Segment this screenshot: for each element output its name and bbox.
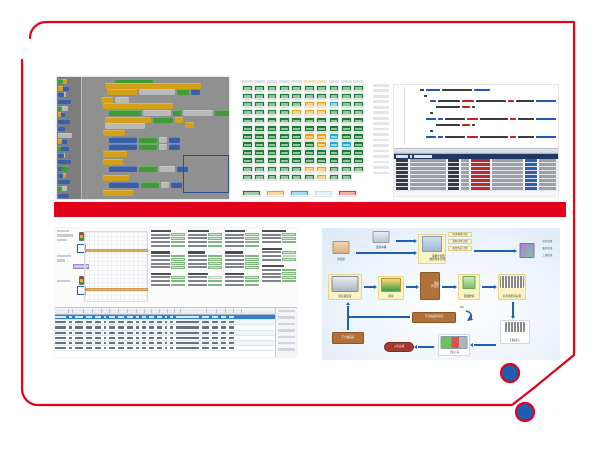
table-column-header[interactable] bbox=[207, 309, 217, 313]
schedule-data-table[interactable] bbox=[55, 307, 297, 357]
table-cell bbox=[127, 316, 133, 318]
status-cell[interactable] bbox=[353, 93, 364, 100]
status-cell[interactable] bbox=[316, 125, 327, 132]
status-cell[interactable] bbox=[267, 117, 278, 124]
status-cell[interactable] bbox=[279, 85, 290, 92]
status-cell[interactable] bbox=[341, 166, 352, 173]
status-cell[interactable] bbox=[279, 109, 290, 116]
table-cell bbox=[221, 342, 226, 344]
status-cell[interactable] bbox=[341, 125, 352, 132]
table-cell bbox=[104, 342, 107, 344]
status-cell[interactable] bbox=[279, 93, 290, 100]
status-cell[interactable] bbox=[254, 174, 265, 181]
flow-node-erp-system bbox=[518, 242, 536, 260]
flow-tag-out-2: 账务信息 bbox=[538, 247, 557, 252]
status-cell[interactable] bbox=[304, 149, 315, 156]
status-cell[interactable] bbox=[279, 133, 290, 140]
table-cell bbox=[149, 347, 154, 349]
table-cell bbox=[55, 316, 66, 318]
accent-dot-lower bbox=[516, 403, 534, 421]
flow-arrow bbox=[356, 252, 414, 254]
flow-arrow-head bbox=[470, 343, 473, 347]
table-cell bbox=[149, 321, 154, 323]
status-cell[interactable] bbox=[341, 117, 352, 124]
detail-column bbox=[188, 230, 222, 303]
table-cell bbox=[109, 316, 115, 318]
panel-status-grid[interactable] bbox=[240, 78, 392, 199]
status-cell[interactable] bbox=[291, 93, 302, 100]
status-cell[interactable] bbox=[316, 85, 327, 92]
table-cell bbox=[86, 332, 92, 334]
gantt-bar[interactable] bbox=[86, 288, 148, 291]
status-cell[interactable] bbox=[267, 109, 278, 116]
status-cell[interactable] bbox=[304, 85, 315, 92]
table-column-header[interactable] bbox=[168, 309, 175, 313]
flow-arrow-head bbox=[416, 285, 419, 289]
table-cell bbox=[212, 326, 218, 328]
status-cell[interactable] bbox=[353, 125, 364, 132]
panel-schedule-board[interactable] bbox=[55, 228, 297, 357]
legend-swatch-idle bbox=[314, 190, 333, 196]
legend-swatch-running bbox=[290, 190, 309, 196]
table-cell bbox=[170, 326, 173, 328]
status-cell[interactable] bbox=[291, 125, 302, 132]
status-cell[interactable] bbox=[267, 133, 278, 140]
status-cell[interactable] bbox=[254, 133, 265, 140]
panel-logistics-flowchart[interactable]: 供应商 送货车辆 需求计划及 收货作业计划 需求预测计划 采购订单计划 收货作业… bbox=[322, 228, 560, 360]
flow-arrow bbox=[348, 316, 410, 318]
status-cell[interactable] bbox=[254, 166, 265, 173]
status-cell[interactable] bbox=[242, 101, 253, 108]
detail-column bbox=[262, 230, 296, 303]
table-column-header[interactable] bbox=[128, 309, 137, 313]
status-cell[interactable] bbox=[267, 125, 278, 132]
table-column-header[interactable] bbox=[73, 309, 84, 313]
flow-label: 不合格品库 bbox=[342, 337, 355, 340]
status-cell[interactable] bbox=[242, 133, 253, 140]
table-cell bbox=[157, 342, 162, 344]
table-cell bbox=[55, 347, 66, 349]
status-cell[interactable] bbox=[353, 157, 364, 164]
status-cell[interactable] bbox=[304, 117, 315, 124]
log-row[interactable] bbox=[394, 187, 558, 191]
flow-arrow bbox=[474, 344, 496, 346]
flow-arrow bbox=[396, 240, 414, 242]
status-cell[interactable] bbox=[329, 174, 340, 181]
status-cell[interactable] bbox=[316, 157, 327, 164]
status-cell[interactable] bbox=[329, 117, 340, 124]
table-cell bbox=[127, 337, 133, 339]
status-cell[interactable] bbox=[254, 125, 265, 132]
table-row[interactable] bbox=[55, 346, 297, 351]
status-cell[interactable] bbox=[291, 149, 302, 156]
status-cell[interactable] bbox=[316, 101, 327, 108]
table-cell bbox=[75, 326, 83, 328]
table-cell bbox=[55, 326, 66, 328]
table-cell bbox=[75, 332, 83, 334]
status-cell[interactable] bbox=[242, 141, 253, 148]
log-row-list[interactable] bbox=[394, 159, 558, 191]
status-cell[interactable] bbox=[304, 101, 315, 108]
status-cell[interactable] bbox=[242, 174, 253, 181]
status-cell[interactable] bbox=[242, 125, 253, 132]
table-column-header[interactable] bbox=[84, 309, 93, 313]
status-cell[interactable] bbox=[329, 166, 340, 173]
flow-return-curve bbox=[464, 310, 476, 322]
table-cell bbox=[75, 337, 83, 339]
status-cell[interactable] bbox=[316, 174, 327, 181]
table-cell bbox=[229, 347, 234, 349]
flow-arrow bbox=[442, 286, 454, 288]
status-cell[interactable] bbox=[316, 141, 327, 148]
status-cell[interactable] bbox=[304, 157, 315, 164]
table-cell bbox=[202, 347, 209, 349]
table-cell bbox=[69, 337, 72, 339]
legend-swatch-fault bbox=[338, 190, 357, 196]
table-cell bbox=[86, 337, 92, 339]
table-column-header[interactable] bbox=[145, 309, 152, 313]
status-cell[interactable] bbox=[267, 157, 278, 164]
table-cell bbox=[69, 326, 72, 328]
status-cell[interactable] bbox=[254, 101, 265, 108]
table-column-header[interactable] bbox=[137, 309, 145, 313]
panel-code-editor[interactable] bbox=[393, 84, 559, 197]
table-cell bbox=[165, 332, 168, 334]
status-cell[interactable] bbox=[267, 85, 278, 92]
status-cell[interactable] bbox=[353, 85, 364, 92]
status-cell[interactable] bbox=[353, 117, 364, 124]
table-cell bbox=[170, 316, 173, 318]
table-cell bbox=[229, 316, 234, 318]
status-cell[interactable] bbox=[254, 109, 265, 116]
status-cell[interactable] bbox=[242, 157, 253, 164]
flow-label: 扫描录入 bbox=[510, 340, 520, 343]
table-cell bbox=[157, 326, 162, 328]
table-cell bbox=[69, 316, 72, 318]
table-cell bbox=[142, 347, 146, 349]
flow-tag-plan-3: 收货作业计划 bbox=[448, 246, 472, 251]
flow-node-inbound-done: 入库完成 bbox=[384, 342, 414, 352]
flow-label: 入库完成 bbox=[394, 346, 404, 349]
table-cell bbox=[127, 321, 133, 323]
table-cell bbox=[176, 347, 199, 349]
status-cell[interactable] bbox=[267, 166, 278, 173]
table-cell bbox=[221, 321, 226, 323]
flow-node-unloading: 卸货 bbox=[378, 276, 404, 300]
table-cell bbox=[118, 347, 124, 349]
flow-label: 收货作业计划 bbox=[429, 259, 445, 263]
table-cell bbox=[165, 337, 168, 339]
status-cell[interactable] bbox=[254, 117, 265, 124]
status-cell[interactable] bbox=[267, 93, 278, 100]
flow-node-quality-check: 质量检验 bbox=[458, 274, 480, 300]
table-column-header[interactable] bbox=[234, 309, 242, 313]
status-cell[interactable] bbox=[329, 149, 340, 156]
flow-arrow-head bbox=[454, 285, 457, 289]
gantt-grid[interactable] bbox=[84, 231, 148, 302]
table-cell bbox=[136, 342, 139, 344]
status-cell[interactable] bbox=[304, 166, 315, 173]
table-column-header[interactable] bbox=[55, 309, 69, 313]
status-cell[interactable] bbox=[329, 133, 340, 140]
status-cell[interactable] bbox=[279, 157, 290, 164]
status-cell[interactable] bbox=[291, 117, 302, 124]
table-cell bbox=[95, 321, 101, 323]
table-cell bbox=[104, 347, 107, 349]
flow-arrow-head bbox=[511, 316, 515, 319]
status-cell[interactable] bbox=[316, 93, 327, 100]
status-cell[interactable] bbox=[316, 117, 327, 124]
status-cell[interactable] bbox=[341, 109, 352, 116]
status-cell[interactable] bbox=[341, 85, 352, 92]
status-cell[interactable] bbox=[341, 149, 352, 156]
table-cell bbox=[118, 332, 124, 334]
status-cell[interactable] bbox=[291, 166, 302, 173]
status-cell[interactable] bbox=[242, 166, 253, 173]
status-cell[interactable] bbox=[279, 141, 290, 148]
table-header-row[interactable] bbox=[55, 308, 297, 315]
status-cell[interactable] bbox=[329, 101, 340, 108]
status-cell[interactable] bbox=[242, 85, 253, 92]
table-cell bbox=[221, 326, 226, 328]
table-cell bbox=[170, 337, 173, 339]
flow-arrow-head bbox=[494, 285, 497, 289]
table-cell bbox=[212, 337, 218, 339]
table-cell bbox=[157, 332, 162, 334]
flow-arrow bbox=[406, 286, 416, 288]
panel-blocks-editor[interactable] bbox=[57, 77, 229, 199]
status-cell[interactable] bbox=[353, 166, 364, 173]
blocks-palette[interactable] bbox=[57, 77, 82, 199]
table-cell bbox=[229, 342, 234, 344]
status-cell[interactable] bbox=[304, 93, 315, 100]
table-cell bbox=[118, 321, 124, 323]
table-cell bbox=[118, 342, 124, 344]
flow-tag-plan-2: 采购订单计划 bbox=[448, 239, 472, 244]
flow-arrow bbox=[512, 302, 514, 316]
status-cell[interactable] bbox=[242, 93, 253, 100]
table-cell bbox=[109, 337, 115, 339]
table-cell bbox=[136, 332, 139, 334]
blocks-canvas[interactable] bbox=[85, 77, 229, 199]
status-cell[interactable] bbox=[291, 133, 302, 140]
status-cell[interactable] bbox=[304, 125, 315, 132]
status-cell[interactable] bbox=[304, 174, 315, 181]
table-cell bbox=[86, 326, 92, 328]
status-cell[interactable] bbox=[316, 133, 327, 140]
flow-arrow-head bbox=[414, 345, 417, 349]
slide-canvas: 供应商 送货车辆 需求计划及 收货作业计划 需求预测计划 采购订单计划 收货作业… bbox=[0, 0, 600, 450]
status-cell[interactable] bbox=[353, 133, 364, 140]
status-cell[interactable] bbox=[279, 174, 290, 181]
table-cell bbox=[149, 316, 154, 318]
flow-label: 供应商送货 bbox=[339, 296, 352, 299]
table-cell bbox=[212, 342, 218, 344]
flow-node-nonconforming-area: 不合格品暂存区 bbox=[412, 312, 456, 323]
table-cell bbox=[109, 347, 115, 349]
table-cell bbox=[221, 347, 226, 349]
status-cell[interactable] bbox=[242, 117, 253, 124]
flow-node-scan-input: 扫描录入 bbox=[500, 320, 530, 344]
flow-arrow-head bbox=[414, 251, 417, 255]
status-cell[interactable] bbox=[353, 174, 364, 181]
table-cell bbox=[104, 337, 107, 339]
table-cell bbox=[170, 332, 173, 334]
status-cell[interactable] bbox=[329, 125, 340, 132]
table-cell bbox=[69, 332, 72, 334]
status-cell[interactable] bbox=[353, 149, 364, 156]
status-cell[interactable] bbox=[329, 85, 340, 92]
status-cell[interactable] bbox=[279, 101, 290, 108]
table-cell bbox=[104, 316, 107, 318]
status-cell[interactable] bbox=[341, 133, 352, 140]
table-cell bbox=[136, 316, 139, 318]
table-cell bbox=[127, 347, 133, 349]
table-cell bbox=[75, 321, 83, 323]
blocks-selection-box bbox=[183, 155, 229, 193]
status-cell[interactable] bbox=[291, 101, 302, 108]
table-cell bbox=[127, 326, 133, 328]
status-cell[interactable] bbox=[254, 157, 265, 164]
status-cell[interactable] bbox=[254, 149, 265, 156]
status-cell[interactable] bbox=[254, 141, 265, 148]
status-grid-header bbox=[242, 80, 364, 83]
status-cell[interactable] bbox=[329, 109, 340, 116]
table-cell bbox=[55, 321, 66, 323]
flow-arrow bbox=[364, 286, 374, 288]
table-cell bbox=[202, 316, 209, 318]
flow-node-inspection-area: 验货 作业区 bbox=[420, 272, 440, 300]
table-cell bbox=[170, 342, 173, 344]
table-column-header[interactable] bbox=[119, 309, 128, 313]
code-text-area[interactable] bbox=[394, 85, 558, 147]
status-cell[interactable] bbox=[304, 141, 315, 148]
flow-arrow-head bbox=[414, 239, 417, 243]
table-column-header[interactable] bbox=[102, 309, 110, 313]
table-cell bbox=[104, 321, 107, 323]
table-cell bbox=[221, 316, 226, 318]
flow-label: 上架入库 bbox=[449, 352, 459, 355]
table-cell bbox=[86, 321, 92, 323]
code-gutter bbox=[404, 87, 405, 145]
table-cell bbox=[86, 342, 92, 344]
detail-column bbox=[151, 230, 185, 303]
status-cell[interactable] bbox=[341, 93, 352, 100]
table-cell bbox=[157, 316, 162, 318]
legend-swatch-normal bbox=[242, 190, 261, 196]
status-cell[interactable] bbox=[242, 109, 253, 116]
status-cell[interactable] bbox=[291, 157, 302, 164]
status-cell[interactable] bbox=[291, 174, 302, 181]
flow-tag-out-1: 库存信息 bbox=[538, 240, 557, 245]
table-column-header[interactable] bbox=[217, 309, 226, 313]
status-cell[interactable] bbox=[341, 174, 352, 181]
table-cell bbox=[221, 332, 226, 334]
status-cell[interactable] bbox=[341, 141, 352, 148]
flow-arrow-head bbox=[514, 249, 517, 253]
status-cell[interactable] bbox=[316, 149, 327, 156]
table-cell bbox=[142, 321, 146, 323]
flow-arrow-head bbox=[346, 302, 350, 305]
flow-arrow bbox=[482, 286, 494, 288]
table-column-header[interactable] bbox=[93, 309, 102, 313]
table-side-panel[interactable] bbox=[275, 308, 297, 357]
status-grid-legend bbox=[242, 190, 357, 196]
gantt-bar[interactable] bbox=[86, 249, 148, 252]
flow-arrow bbox=[347, 316, 349, 330]
table-cell bbox=[95, 347, 101, 349]
status-cell[interactable] bbox=[279, 149, 290, 156]
table-cell bbox=[229, 337, 234, 339]
table-cell bbox=[86, 316, 92, 318]
table-column-header[interactable] bbox=[181, 309, 207, 313]
status-cell[interactable] bbox=[254, 93, 265, 100]
table-cell bbox=[75, 347, 83, 349]
table-column-header[interactable] bbox=[110, 309, 119, 313]
status-cell[interactable] bbox=[353, 109, 364, 116]
status-cell[interactable] bbox=[316, 109, 327, 116]
status-cell[interactable] bbox=[329, 141, 340, 148]
table-cell bbox=[229, 326, 234, 328]
table-cell bbox=[75, 342, 83, 344]
status-cell[interactable] bbox=[242, 149, 253, 156]
status-cell[interactable] bbox=[329, 157, 340, 164]
status-cell[interactable] bbox=[279, 166, 290, 173]
table-cell bbox=[165, 347, 168, 349]
status-cell[interactable] bbox=[267, 101, 278, 108]
status-cell[interactable] bbox=[316, 166, 327, 173]
table-cell bbox=[176, 316, 199, 318]
table-cell bbox=[95, 337, 101, 339]
table-cell bbox=[202, 326, 209, 328]
status-grid-body[interactable] bbox=[242, 85, 364, 181]
status-cell[interactable] bbox=[279, 117, 290, 124]
table-column-header[interactable] bbox=[226, 309, 234, 313]
table-cell bbox=[86, 347, 92, 349]
status-cell[interactable] bbox=[291, 85, 302, 92]
status-cell[interactable] bbox=[341, 101, 352, 108]
status-cell[interactable] bbox=[254, 85, 265, 92]
table-body[interactable] bbox=[55, 315, 297, 351]
schedule-toolbar[interactable] bbox=[57, 230, 77, 284]
status-cell[interactable] bbox=[291, 109, 302, 116]
status-cell[interactable] bbox=[267, 141, 278, 148]
flow-arrow-head bbox=[374, 285, 377, 289]
status-cell[interactable] bbox=[341, 157, 352, 164]
status-cell[interactable] bbox=[279, 125, 290, 132]
status-cell[interactable] bbox=[304, 133, 315, 140]
status-cell[interactable] bbox=[267, 149, 278, 156]
table-cell bbox=[69, 342, 72, 344]
status-cell[interactable] bbox=[329, 93, 340, 100]
status-cell[interactable] bbox=[267, 174, 278, 181]
status-cell[interactable] bbox=[291, 141, 302, 148]
table-cell bbox=[176, 342, 199, 344]
status-cell[interactable] bbox=[353, 141, 364, 148]
log-console[interactable] bbox=[394, 148, 558, 196]
table-cell bbox=[149, 326, 154, 328]
legend-swatch-warning bbox=[266, 190, 285, 196]
table-column-header[interactable] bbox=[152, 309, 160, 313]
table-cell bbox=[142, 332, 146, 334]
status-cell[interactable] bbox=[304, 109, 315, 116]
table-cell bbox=[69, 321, 72, 323]
flow-node-delivery-truck-top: 送货车辆 bbox=[368, 230, 394, 250]
flow-label: 质量检验 bbox=[464, 296, 474, 299]
table-column-header[interactable] bbox=[160, 309, 168, 313]
table-cell bbox=[229, 321, 234, 323]
status-cell[interactable] bbox=[353, 101, 364, 108]
